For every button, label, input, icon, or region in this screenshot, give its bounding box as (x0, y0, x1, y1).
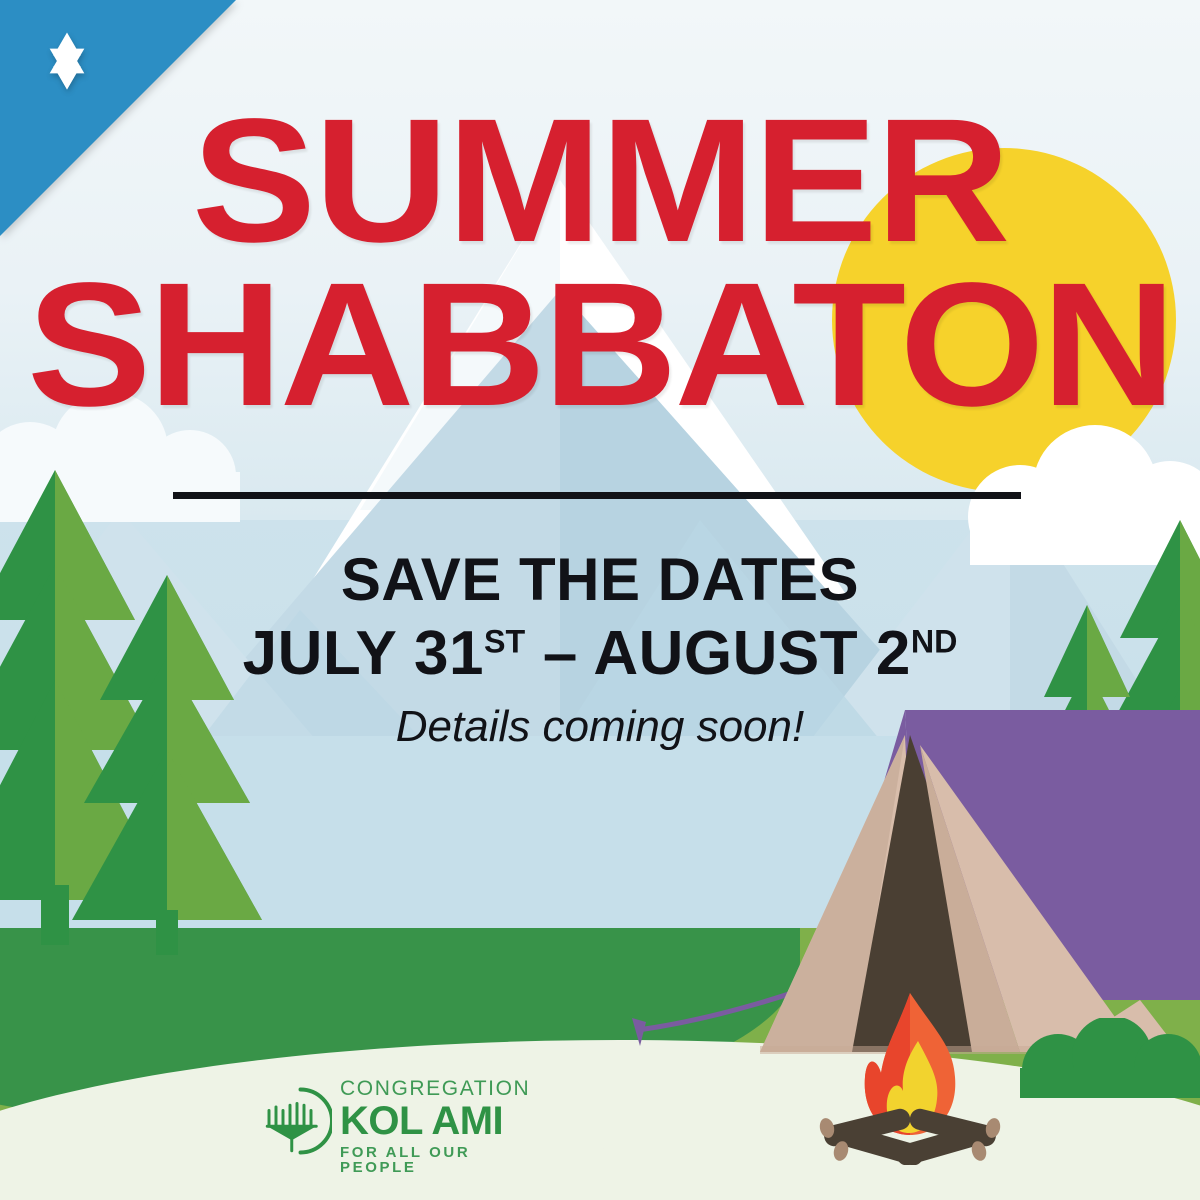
dates-prefix: JULY 31 (243, 619, 484, 688)
dates-sup-st: ST (484, 623, 525, 659)
menorah-icon (262, 1086, 332, 1156)
page-title: SUMMER SHABBATON (0, 100, 1200, 427)
logo-line-congregation: CONGREGATION (340, 1078, 540, 1099)
logo-text: CONGREGATION KOL AMI FOR ALL OUR PEOPLE (340, 1078, 540, 1175)
dates-sup-nd: ND (911, 623, 958, 659)
title-line-1: SUMMER (0, 100, 1200, 264)
logo-tagline: FOR ALL OUR PEOPLE (340, 1145, 540, 1175)
details-note: Details coming soon! (0, 702, 1200, 752)
logo-line-kolami: KOL AMI (340, 1101, 540, 1142)
poster-canvas: SUMMER SHABBATON SAVE THE DATES JULY 31S… (0, 0, 1200, 1200)
bush-cluster (1020, 1018, 1200, 1098)
dates-mid: – AUGUST 2 (525, 619, 911, 688)
save-the-dates-heading: SAVE THE DATES (0, 548, 1200, 611)
campfire-icon (815, 985, 1005, 1165)
event-details-block: SAVE THE DATES JULY 31ST – AUGUST 2ND De… (0, 548, 1200, 752)
event-dates: JULY 31ST – AUGUST 2ND (0, 619, 1200, 688)
organization-logo: CONGREGATION KOL AMI FOR ALL OUR PEOPLE (262, 1078, 530, 1166)
title-line-2: SHABBATON (0, 264, 1200, 428)
star-of-david-icon (36, 30, 98, 92)
divider (173, 492, 1021, 499)
